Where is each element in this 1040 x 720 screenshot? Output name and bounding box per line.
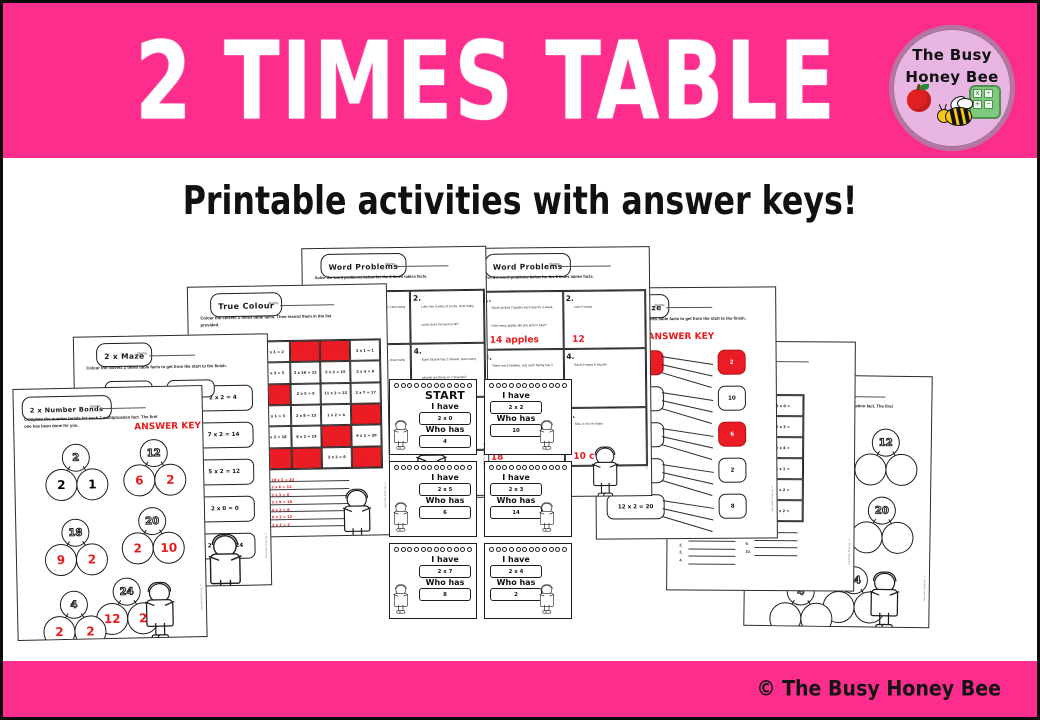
dot-icon — [542, 547, 547, 552]
maze-answer-box[interactable]: 8 — [719, 494, 747, 519]
card-dot-row — [394, 465, 472, 469]
word-problem-cell[interactable]: 1.Sarah picked 2 apples each day for a w… — [480, 291, 563, 350]
answer-line — [754, 547, 797, 548]
colour-grid-cell[interactable]: 2 x 1 = 1 — [350, 339, 380, 361]
card-content: I have2 x 2Who has10 — [490, 391, 542, 437]
colour-grid-cell[interactable]: 2 x 6 = 16 — [290, 340, 320, 362]
number-bond-top: 2 — [62, 443, 91, 472]
maze-connector — [662, 464, 714, 473]
i-have-who-has-card[interactable]: I have2 x 4Who has2 — [484, 543, 572, 619]
student-clipart — [540, 421, 554, 450]
dot-icon — [502, 547, 507, 552]
dot-icon — [407, 465, 412, 470]
dot-icon — [529, 547, 534, 552]
colour-grid-cell[interactable]: 9 x 2 = 20 — [351, 425, 381, 447]
dot-icon — [454, 465, 459, 470]
dot-icon — [394, 547, 399, 552]
colour-grid-cell[interactable]: 1 x 2 = 4 — [321, 404, 351, 426]
logo-line-2: Honey Bee — [893, 68, 1011, 86]
card-content: I have2 x 5Who has6 — [419, 473, 471, 519]
worksheet-credit: © The Busy Honey Bee — [200, 584, 204, 610]
dot-icon — [460, 465, 465, 470]
worksheet-credit: © The Busy Honey Bee — [923, 575, 926, 601]
name-field-label[interactable]: Name: — [654, 303, 712, 308]
dot-icon — [421, 465, 426, 470]
dot-icon — [509, 465, 514, 470]
who-has-value: 2 — [490, 588, 542, 601]
i-have-label: I have — [490, 473, 542, 482]
problem-text: Luke has 4 pairs of socks. How many sock… — [421, 304, 474, 327]
answer-line — [688, 540, 735, 541]
i-have-label: I have — [419, 402, 471, 411]
number-bond-top: 18 — [61, 518, 90, 547]
dot-icon — [542, 383, 547, 388]
dot-icon — [427, 383, 432, 388]
brand-logo: The Busy Honey Bee x÷+− — [889, 25, 1015, 151]
maze-answer-box[interactable]: 6 — [718, 422, 746, 447]
who-has-value: 6 — [419, 506, 471, 519]
maze-fact-box[interactable]: 12 x 2 = 20 — [607, 494, 665, 519]
i-have-value: 2 x 3 — [490, 483, 542, 496]
dot-icon — [440, 383, 445, 388]
card-content: I have2 x 7Who has8 — [419, 555, 471, 601]
card-dot-row — [489, 383, 567, 387]
dot-icon — [440, 547, 445, 552]
card-student-clipart — [394, 487, 421, 531]
dot-icon — [467, 547, 472, 552]
calculator-icon: x÷+− — [969, 85, 1001, 119]
dot-icon — [516, 547, 521, 552]
number-bond-top: 12 — [872, 428, 900, 456]
who-has-label: Who has — [419, 578, 471, 587]
dot-icon — [447, 383, 452, 388]
student-clipart — [394, 421, 408, 450]
problem-text: Mrs. b of a te chairs — [575, 421, 603, 425]
worksheet-credit: © The Busy Honey Bee — [645, 443, 648, 469]
who-has-value: 14 — [490, 506, 542, 519]
colour-grid-cell[interactable]: 2 x 4 = 9 — [350, 361, 380, 383]
colour-grid-cell[interactable]: 8 x 2 = 14 — [291, 426, 321, 448]
name-field-label[interactable]: Name: — [137, 351, 195, 357]
answer-number: 2. — [679, 543, 682, 547]
answer-number: 10. — [745, 549, 750, 553]
worksheet-title: True Colour — [218, 301, 274, 311]
i-have-label: I have — [490, 391, 542, 400]
dot-icon — [529, 465, 534, 470]
number-bond-top: 24 — [112, 577, 141, 606]
dot-icon — [394, 383, 399, 388]
number-bond-top: 20 — [868, 496, 896, 524]
card-dot-row — [489, 547, 567, 551]
dot-icon — [555, 547, 560, 552]
who-has-label: Who has — [490, 414, 542, 423]
colour-grid-cell[interactable]: 2 x 10 = 12 — [290, 362, 320, 384]
dot-icon — [447, 465, 452, 470]
card-student-clipart — [540, 405, 567, 449]
colour-grid-cell[interactable]: 2 x 2 = 6 — [322, 447, 352, 469]
dot-icon — [502, 383, 507, 388]
dot-icon — [489, 465, 494, 470]
answer-line — [688, 563, 735, 564]
answer-value: 10 x 2 = 20 — [271, 477, 294, 481]
number-bond-left: 2 — [43, 616, 76, 641]
i-have-label: I have — [419, 473, 471, 482]
answer-value: 6 x 2 = 12 — [272, 515, 292, 519]
student-clipart — [593, 447, 618, 498]
number-bond-left: 9 — [45, 544, 78, 577]
maze-connector — [663, 500, 715, 509]
dot-icon — [454, 547, 459, 552]
colour-grid-cell[interactable]: 3 x 2 = 16 — [320, 340, 350, 362]
word-problem-cell[interactable]: 2.Luke h many12 — [563, 290, 646, 349]
dot-icon — [407, 383, 412, 388]
problem-text: Luke h many — [574, 305, 592, 309]
colour-grid-cell[interactable]: 2 x 5 = 5 — [291, 383, 321, 405]
student-clipart — [540, 585, 554, 614]
who-has-label: Who has — [419, 425, 471, 434]
dot-icon — [489, 383, 494, 388]
dot-icon — [542, 465, 547, 470]
dot-icon — [414, 547, 419, 552]
colour-grid-cell[interactable]: 2 x 9 = 18 — [351, 403, 381, 425]
card-dot-row — [394, 383, 472, 387]
dot-icon — [401, 383, 406, 388]
number-bond-right: 2 — [154, 463, 187, 496]
name-field-label[interactable]: Name: — [90, 403, 146, 409]
dot-icon — [562, 465, 567, 470]
number-bond-left[interactable] — [854, 453, 886, 485]
i-have-who-has-card[interactable]: I have2 x 7Who has8 — [389, 543, 477, 619]
dot-icon — [427, 547, 432, 552]
colour-grid-cell[interactable]: 5 x 2 = 15 — [320, 361, 350, 383]
i-have-who-has-card[interactable]: STARTI have2 x 0Who has4 — [389, 379, 477, 455]
student-clipart — [870, 572, 898, 628]
dot-icon — [467, 465, 472, 470]
i-have-value: 2 x 5 — [419, 483, 471, 496]
dot-icon — [401, 547, 406, 552]
worksheet-credit: © The Busy Honey Bee — [383, 482, 386, 508]
card-student-clipart — [540, 569, 567, 613]
dot-icon — [440, 465, 445, 470]
subtitle: Printable activities with answer keys! — [24, 177, 1017, 223]
name-field-label[interactable]: Name: — [269, 300, 335, 306]
number-bond-left: 6 — [123, 464, 156, 497]
who-has-label: Who has — [419, 496, 471, 505]
dot-icon — [562, 383, 567, 388]
dot-icon — [555, 465, 560, 470]
answer-value: 2 x 3 = 6 — [271, 493, 289, 497]
who-has-label: Who has — [490, 496, 542, 505]
student-clipart — [209, 535, 241, 589]
answer-line — [754, 539, 797, 540]
number-bond-left[interactable] — [769, 602, 801, 628]
number-bond-right: 2 — [76, 543, 109, 576]
worksheet-instruction: Colour the correct 2 times table facts t… — [86, 363, 236, 372]
number-bond-left: 2 — [45, 469, 78, 502]
dot-icon — [509, 383, 514, 388]
dot-icon — [414, 465, 419, 470]
copyright-text: © The Busy Honey Bee — [756, 677, 1037, 702]
student-clipart — [343, 490, 370, 539]
dot-icon — [522, 383, 527, 388]
dot-icon — [414, 383, 419, 388]
dot-icon — [549, 547, 554, 552]
dot-icon — [460, 547, 465, 552]
colour-grid-cell[interactable]: 11 x 2 = 22 — [321, 383, 351, 405]
i-have-who-has-card[interactable]: I have2 x 2Who has10 — [484, 379, 572, 455]
dot-icon — [516, 465, 521, 470]
bee-icon — [937, 101, 973, 127]
dot-icon — [421, 383, 426, 388]
dot-icon — [467, 383, 472, 388]
i-have-label: I have — [490, 555, 542, 564]
name-field-label[interactable]: Name: — [385, 261, 449, 267]
dot-icon — [496, 547, 501, 552]
answer-row: 4. — [679, 558, 735, 566]
logo-line-1: The Busy — [893, 46, 1011, 64]
header-banner: 2 TIMES TABLE The Busy Honey Bee x÷+− — [3, 3, 1037, 158]
number-bond-right[interactable] — [881, 522, 913, 554]
number-bond-top: 4 — [60, 590, 89, 619]
student-clipart — [394, 585, 408, 614]
i-have-who-has-card[interactable]: I have2 x 3Who has14 — [484, 461, 572, 537]
maze-connector — [662, 356, 714, 365]
i-have-value: 2 x 7 — [419, 565, 471, 578]
number-bond-right: 1 — [76, 468, 109, 501]
i-have-who-has-card-set: STARTI have2 x 0Who has4I have2 x 2Who h… — [389, 379, 574, 619]
worksheet-gallery: 2 x Number BondsName: Complete the numbe… — [3, 239, 1040, 667]
problem-number: 2. — [413, 294, 421, 303]
worksheet-instruction: Colour the correct 2 times table facts. … — [200, 313, 350, 329]
who-has-value: 4 — [419, 435, 471, 448]
dot-icon — [496, 383, 501, 388]
dot-icon — [427, 465, 432, 470]
answer-number: 3. — [679, 550, 682, 554]
word-problem-cell[interactable]: 2.Luke has 4 pairs of socks. How many so… — [410, 290, 485, 344]
problem-answer: 12 — [572, 335, 585, 345]
student-clipart — [540, 503, 554, 532]
dot-icon — [434, 547, 439, 552]
number-bond-left[interactable] — [850, 521, 882, 553]
poster-page: 2 TIMES TABLE The Busy Honey Bee x÷+− Pr… — [0, 0, 1040, 720]
dot-icon — [549, 465, 554, 470]
who-has-label: Who has — [490, 578, 542, 587]
maze-connector — [662, 392, 714, 401]
maze-answer-box[interactable]: 2 — [718, 458, 746, 483]
card-content: I have2 x 4Who has2 — [490, 555, 542, 601]
answer-key-label: ANSWER KEY — [647, 332, 714, 342]
card-student-clipart — [394, 569, 421, 613]
card-student-clipart — [394, 405, 421, 449]
dot-icon — [562, 547, 567, 552]
answer-number: 9. — [745, 542, 748, 546]
card-content: STARTI have2 x 0Who has4 — [419, 389, 471, 448]
dot-icon — [496, 465, 501, 470]
problem-answer: 14 apples — [490, 336, 539, 347]
dot-icon — [516, 383, 521, 388]
problem-number: 4. — [414, 347, 422, 356]
i-have-label: I have — [419, 555, 471, 564]
worksheet-credit: © The Busy Honey Bee — [771, 485, 774, 511]
dot-icon — [535, 383, 540, 388]
answer-number: 4. — [679, 558, 682, 562]
i-have-who-has-card[interactable]: I have2 x 5Who has6 — [389, 461, 477, 537]
answer-value: 2 x 1 = 2 — [272, 523, 290, 527]
answer-value: 2 x 6 = 12 — [271, 485, 291, 489]
worksheet-credit: © The Busy Honey Bee — [847, 538, 850, 564]
dot-icon — [434, 465, 439, 470]
dot-icon — [454, 383, 459, 388]
colour-grid-cell[interactable]: 2 x 1 = 2 — [352, 446, 382, 468]
problem-text: Sarah picked 2 apples each day for a wee… — [491, 305, 553, 328]
dot-icon — [421, 547, 426, 552]
answer-line — [688, 555, 735, 556]
who-has-value: 10 — [490, 424, 542, 437]
start-label: START — [419, 389, 471, 402]
maze-answer-box[interactable]: 10 — [718, 386, 746, 411]
card-content: I have2 x 3Who has14 — [490, 473, 542, 519]
dot-icon — [522, 465, 527, 470]
answer-line — [754, 554, 797, 555]
dot-icon — [447, 547, 452, 552]
colour-grid-cell[interactable]: 2 x 7 = 17 — [351, 382, 381, 404]
student-clipart — [145, 583, 174, 641]
apple-icon — [907, 89, 931, 112]
i-have-value: 2 x 0 — [419, 412, 471, 425]
dot-icon — [509, 547, 514, 552]
footer-banner: © The Busy Honey Bee — [3, 661, 1037, 717]
dot-icon — [489, 547, 494, 552]
card-dot-row — [394, 547, 472, 551]
page-title: 2 TIMES TABLE — [19, 0, 1022, 180]
problem-number: 4. — [566, 352, 574, 361]
problem-number: 2. — [566, 294, 574, 303]
dot-icon — [460, 383, 465, 388]
colour-grid-cell[interactable]: 2 x 5 = 10 — [321, 425, 351, 447]
number-bond-right[interactable] — [885, 454, 917, 486]
dot-icon — [407, 547, 412, 552]
who-has-value: 8 — [419, 588, 471, 601]
dot-icon — [549, 383, 554, 388]
answer-line — [688, 548, 735, 549]
i-have-value: 2 x 2 — [490, 401, 542, 414]
dot-icon — [394, 465, 399, 470]
answer-value: 2 x 9 = 18 — [272, 500, 292, 504]
problem-text: Each b many w bicycle — [574, 363, 606, 367]
dot-icon — [555, 383, 560, 388]
word-problem-cell[interactable]: 4.Each b many w bicycle — [563, 348, 646, 407]
dot-icon — [535, 547, 540, 552]
answer-list: 7.10 x 2 = 208.2 x 6 = 129.2 x 3 = 610.2… — [259, 475, 350, 529]
colour-grid-cell[interactable]: 10 x 2 = 20 — [292, 447, 322, 469]
colour-grid[interactable]: 2 x 1 = 22 x 6 = 163 x 2 = 162 x 1 = 12 … — [259, 338, 383, 470]
number-bond-left: 2 — [121, 532, 154, 565]
dot-icon — [502, 465, 507, 470]
answer-row: 10. — [745, 549, 797, 557]
worksheet-credit: © The Busy Honey Bee — [264, 532, 267, 558]
dot-icon — [522, 547, 527, 552]
dot-icon — [535, 465, 540, 470]
worksheet-instruction: Solve the word problems below for the 2 … — [481, 273, 639, 281]
problem-answer: 10 c — [573, 452, 594, 462]
answer-key-label: ANSWER KEY — [134, 421, 201, 432]
number-bond-top: 12 — [139, 439, 168, 468]
dot-icon — [434, 383, 439, 388]
answer-list-left: 1.2.3.4. — [679, 535, 735, 565]
dot-icon — [401, 465, 406, 470]
dot-icon — [529, 383, 534, 388]
number-bond-right: 10 — [152, 531, 185, 564]
card-student-clipart — [540, 487, 567, 531]
student-clipart — [394, 503, 408, 532]
maze-answer-box[interactable]: 2 — [718, 350, 746, 375]
answer-row: 13.2 x 1 = 2 — [260, 520, 350, 529]
worksheet-number-bonds-answer-key[interactable]: 2 x Number BondsName: Complete the numbe… — [12, 385, 207, 641]
i-have-value: 2 x 4 — [490, 565, 542, 578]
worksheet-instruction: Solve the word problems below for the 2 … — [315, 273, 473, 281]
number-bond-top: 20 — [138, 507, 167, 536]
card-dot-row — [489, 465, 567, 469]
maze-connector — [662, 428, 714, 437]
problem-text: Each bicycle has 2 wheels. How many whee… — [422, 357, 476, 380]
colour-grid-cell[interactable]: 2 x 8 = 13 — [291, 404, 321, 426]
name-field-label[interactable]: Name: — [549, 261, 611, 267]
answer-value: 4 x 2 = 8 — [272, 508, 290, 512]
